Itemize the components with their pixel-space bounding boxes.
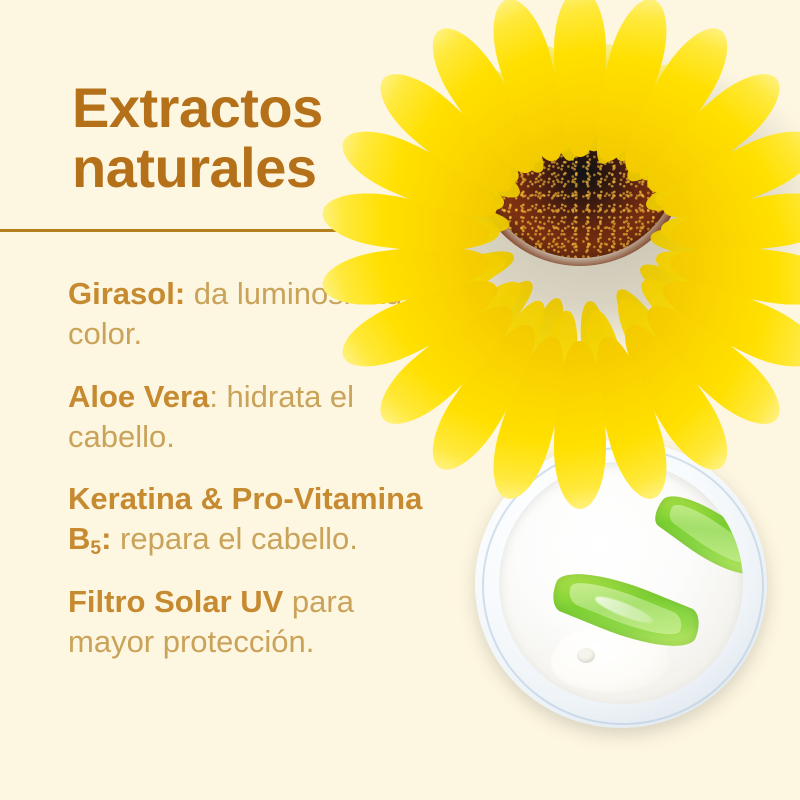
sunflower-petal — [544, 72, 584, 162]
page-title-line-1: Extractos — [72, 78, 492, 138]
jar-cream-surface — [499, 462, 743, 704]
sunflower-petal — [667, 186, 800, 261]
sunflower-petal — [633, 59, 794, 208]
sunflower-petal — [651, 240, 765, 309]
sunflower-petal — [554, 341, 606, 509]
page-title-line-2: naturales — [72, 138, 492, 198]
sunflower-petal — [460, 272, 541, 355]
aloe-gel-highlight — [593, 592, 655, 627]
sunflower-petal — [631, 268, 738, 364]
jar-outer-wall — [475, 440, 767, 728]
sunflower-petal — [606, 291, 693, 402]
aloe-leaf-flesh — [565, 573, 686, 645]
sunflower-center-disc — [482, 72, 678, 258]
aloe-leaf-slice-bottom — [547, 558, 706, 662]
sunflower-petal — [603, 57, 687, 169]
benefit-lead-aloe-vera: Aloe Vera — [68, 379, 209, 414]
benefit-lead-keratina-colon: : — [101, 521, 111, 556]
sunflower-petal — [641, 162, 733, 220]
benefit-lead-filtro-solar: Filtro Solar UV — [68, 584, 283, 619]
sunflower-petal — [575, 41, 628, 154]
sunflower-petal — [581, 0, 678, 168]
sunflower-petal — [482, 330, 579, 506]
title-divider-rule — [0, 229, 467, 232]
sunflower-petal — [608, 16, 743, 185]
benefit-item-aloe-vera: Aloe Vera: hidrata el cabello. — [68, 377, 448, 458]
sunflower-petal — [653, 117, 800, 234]
sunflower-petal — [533, 308, 586, 421]
sunflower-petal — [575, 299, 615, 389]
sunflower-petal — [649, 146, 763, 218]
sunflower-petal — [667, 236, 800, 311]
sunflower-petal — [653, 264, 800, 381]
sunflower-petal — [649, 223, 738, 260]
benefit-lead-girasol: Girasol: — [68, 276, 185, 311]
sunflower-petal — [588, 76, 643, 168]
sunflower-petal — [578, 307, 634, 420]
cream-swirl — [551, 622, 669, 692]
page-title: Extractos naturales — [72, 78, 492, 199]
sunflower-center-rim — [474, 64, 686, 266]
benefit-item-filtro-solar: Filtro Solar UV para mayor protección. — [68, 582, 448, 663]
sunflower-petal — [581, 330, 678, 506]
sunflower-petal — [607, 282, 679, 371]
sunflower-petal — [661, 210, 770, 248]
sunflower-petal — [619, 107, 700, 190]
aloe-leaf-flesh — [665, 496, 743, 571]
benefit-text-keratina: repara el cabello. — [111, 521, 357, 556]
sunflower-petal — [608, 312, 743, 481]
aloe-vera-cream-jar-image — [455, 418, 785, 748]
sunflower-petal — [391, 214, 500, 252]
sunflower-petal — [633, 255, 723, 325]
product-benefits-poster: Extractos naturales Girasol: da luminosi… — [0, 0, 800, 800]
benefit-lead-keratina-subscript: 5 — [90, 538, 101, 559]
sunflower-petal — [629, 93, 734, 191]
sunflower-petal — [473, 293, 557, 405]
sunflower-petal — [517, 294, 572, 386]
jar-shadow — [473, 444, 773, 740]
cream-droplet — [577, 648, 595, 663]
sunflower-petal — [526, 42, 582, 155]
sunflower-petal — [482, 0, 579, 168]
jar-rim — [482, 447, 764, 725]
benefit-item-girasol: Girasol: da luminosidad al color. — [68, 274, 448, 355]
benefit-item-keratina: Keratina & Pro-Vitamina B5: repara el ca… — [68, 479, 448, 560]
sunflower-petal — [421, 202, 510, 239]
sunflower-petal — [633, 290, 794, 439]
aloe-leaf-slice-top — [649, 482, 743, 589]
sunflower-petal — [554, 0, 606, 157]
benefits-list: Girasol: da luminosidad al color. Aloe V… — [68, 274, 448, 662]
